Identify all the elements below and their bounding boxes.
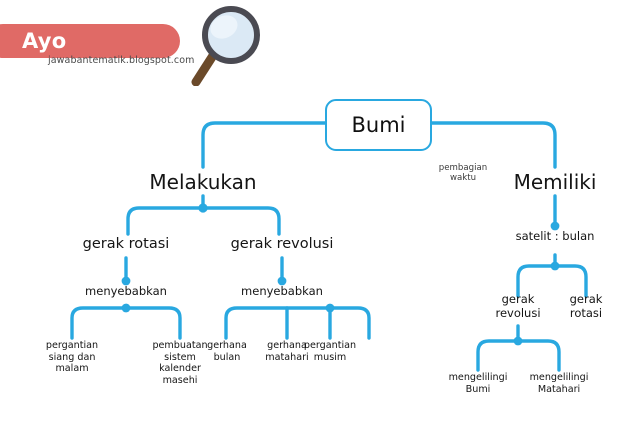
leaf-pergantian-musim[interactable]: pergantian musim bbox=[299, 340, 361, 363]
node-satelit-bulan[interactable]: satelit : bulan bbox=[495, 229, 615, 243]
node-gerak-revolusi[interactable]: gerak revolusi bbox=[222, 236, 342, 252]
node-line: gerak bbox=[556, 292, 616, 306]
node-memiliki[interactable]: Memiliki bbox=[500, 170, 610, 194]
leaf-line: bulan bbox=[196, 352, 258, 364]
node-line: gerak bbox=[488, 292, 548, 306]
annotation-pembagian-waktu: pembagian waktu bbox=[423, 163, 503, 183]
node-menyebabkan-rotasi[interactable]: menyebabkan bbox=[66, 284, 186, 298]
leaf-line: mengelilingi bbox=[523, 372, 595, 384]
node-bumi-label: Bumi bbox=[351, 113, 405, 137]
leaf-line: kalender bbox=[142, 363, 218, 375]
mind-map-page: Ayo Mengamati jawabantematik.blogspot.co… bbox=[0, 0, 620, 426]
node-line: revolusi bbox=[488, 306, 548, 320]
leaf-line: masehi bbox=[142, 375, 218, 387]
leaf-gerhana-bulan[interactable]: gerhana bulan bbox=[196, 340, 258, 363]
node-bulan-gerak-revolusi[interactable]: gerak revolusi bbox=[488, 292, 548, 320]
leaf-line: gerhana bbox=[196, 340, 258, 352]
node-menyebabkan-revolusi[interactable]: menyebabkan bbox=[222, 284, 342, 298]
leaf-pergantian-siang-malam[interactable]: pergantian siang dan malam bbox=[34, 340, 110, 375]
annotation-line-2: waktu bbox=[423, 173, 503, 183]
leaf-line: mengelilingi bbox=[442, 372, 514, 384]
leaf-line: Bumi bbox=[442, 384, 514, 396]
node-bumi[interactable]: Bumi bbox=[325, 99, 432, 151]
leaf-line: Matahari bbox=[523, 384, 595, 396]
node-bulan-gerak-rotasi[interactable]: gerak rotasi bbox=[556, 292, 616, 320]
node-gerak-rotasi[interactable]: gerak rotasi bbox=[66, 236, 186, 252]
leaf-line: siang dan bbox=[34, 352, 110, 364]
node-line: rotasi bbox=[556, 306, 616, 320]
leaf-line: pergantian bbox=[299, 340, 361, 352]
leaf-line: pergantian bbox=[34, 340, 110, 352]
leaf-mengelilingi-bumi[interactable]: mengelilingi Bumi bbox=[442, 372, 514, 395]
node-melakukan[interactable]: Melakukan bbox=[133, 170, 273, 194]
annotation-line-1: pembagian bbox=[423, 163, 503, 173]
leaf-mengelilingi-matahari[interactable]: mengelilingi Matahari bbox=[523, 372, 595, 395]
leaf-line: musim bbox=[299, 352, 361, 364]
leaf-line: malam bbox=[34, 363, 110, 375]
